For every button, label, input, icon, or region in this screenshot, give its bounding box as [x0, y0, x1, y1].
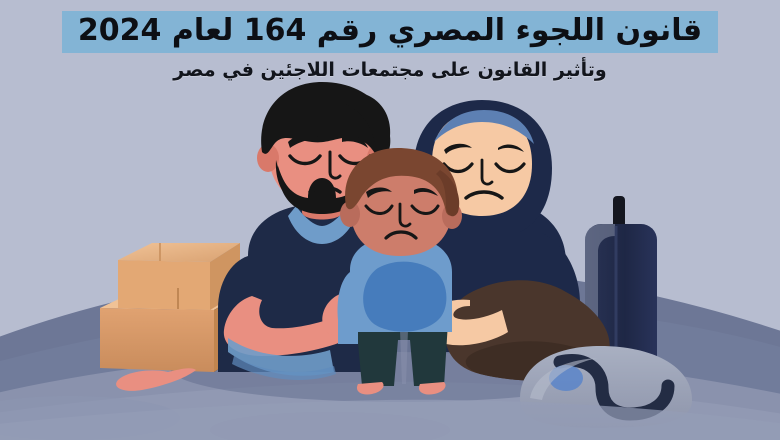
header-block: قانون اللجوء المصري رقم 164 لعام 2024 وت…	[0, 0, 780, 81]
child-shirt-shade	[363, 262, 446, 332]
page-subtitle: وتأثير القانون على مجتمعات اللاجئين في م…	[173, 59, 606, 81]
page-title: قانون اللجوء المصري رقم 164 لعام 2024	[78, 13, 702, 48]
box-upper-front	[118, 260, 210, 310]
title-band: قانون اللجوء المصري رقم 164 لعام 2024	[62, 11, 718, 53]
poster-canvas: قانون اللجوء المصري رقم 164 لعام 2024 وت…	[0, 0, 780, 440]
suitcase-handle	[613, 196, 625, 228]
subtitle-wrap: وتأثير القانون على مجتمعات اللاجئين في م…	[0, 59, 780, 81]
box-lower-front	[100, 308, 214, 372]
